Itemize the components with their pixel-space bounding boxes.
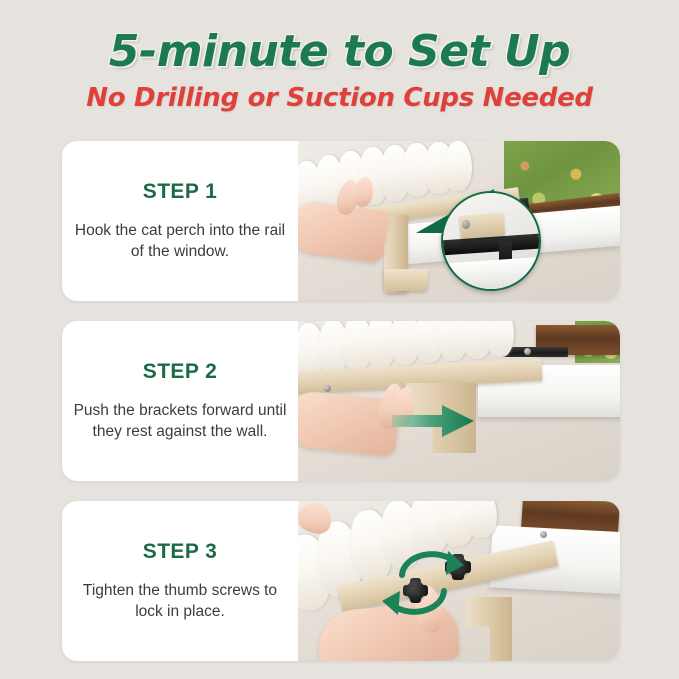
header: 5-minute to Set Up No Drilling or Suctio… bbox=[0, 0, 679, 132]
step-1-photo bbox=[298, 141, 620, 301]
step-2-label: STEP 2 bbox=[143, 360, 217, 384]
step-2-description: Push the brackets forward until they res… bbox=[70, 400, 290, 442]
step-2-text-panel: STEP 2 Push the brackets forward until t… bbox=[62, 321, 298, 481]
step-3-description: Tighten the thumb screws to lock in plac… bbox=[70, 580, 290, 622]
perch-bracket-foot bbox=[384, 269, 428, 291]
board-screw-left bbox=[324, 385, 331, 392]
step-1-text-panel: STEP 1 Hook the cat perch into the rail … bbox=[62, 141, 298, 301]
magnified-inset-circle bbox=[441, 191, 541, 291]
step-1-description: Hook the cat perch into the rail of the … bbox=[70, 220, 290, 262]
page-title: 5-minute to Set Up bbox=[0, 0, 679, 77]
step-card-3: STEP 3 Tighten the thumb screws to lock … bbox=[62, 501, 620, 661]
page-subtitle: No Drilling or Suction Cups Needed bbox=[0, 77, 679, 113]
green-direction-arrow-icon bbox=[390, 401, 476, 441]
step-3-text-panel: STEP 3 Tighten the thumb screws to lock … bbox=[62, 501, 298, 661]
step-card-2: STEP 2 Push the brackets forward until t… bbox=[62, 321, 620, 481]
step-3-label: STEP 3 bbox=[143, 540, 217, 564]
board-screw-right bbox=[524, 348, 531, 355]
board-screw bbox=[540, 531, 547, 538]
step-1-label: STEP 1 bbox=[143, 180, 217, 204]
step-2-photo bbox=[298, 321, 620, 481]
green-rotation-arrow-lower-icon bbox=[378, 577, 450, 621]
step-card-1: STEP 1 Hook the cat perch into the rail … bbox=[62, 141, 620, 301]
step-2-scene bbox=[298, 321, 620, 481]
step-3-scene bbox=[298, 501, 620, 661]
step-1-scene bbox=[298, 141, 620, 301]
step-3-photo bbox=[298, 501, 620, 661]
